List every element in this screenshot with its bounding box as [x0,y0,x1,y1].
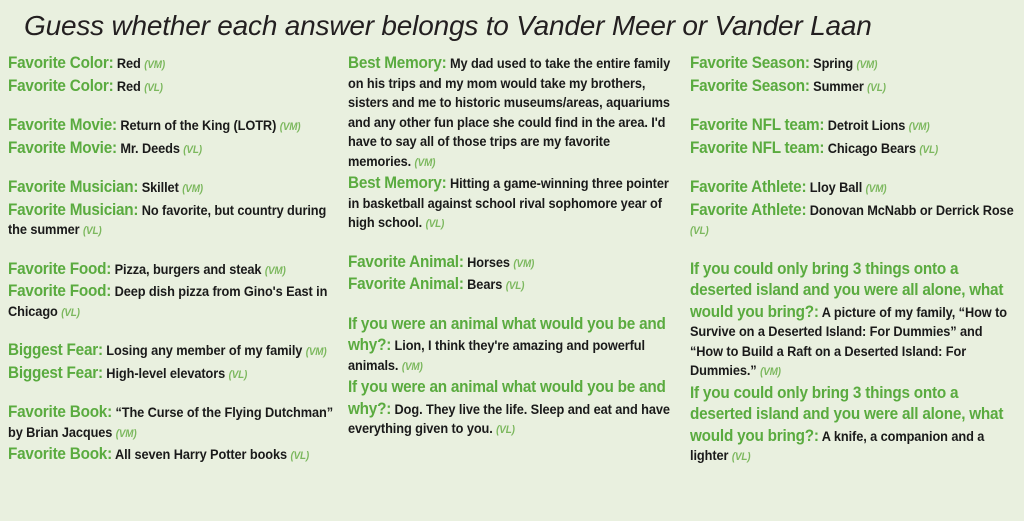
group-spacer [8,385,336,402]
qa-person-tag: (VL) [426,218,445,230]
qa-person-tag: (VM) [265,265,286,277]
qa-person-tag: (VM) [182,183,203,195]
qa-person-tag: (VM) [909,121,930,133]
qa-question: Favorite NFL team: [690,115,824,134]
qa-entry: Favorite Food: Deep dish pizza from Gino… [8,281,336,323]
qa-person-tag: (VL) [83,225,102,237]
qa-entry: Favorite Movie: Return of the King (LOTR… [8,115,336,138]
qa-question: Favorite Animal: [348,252,464,271]
qa-column-1: Favorite Color: Red (VM)Favorite Color: … [0,53,348,467]
group-spacer [690,160,1016,177]
qa-entry: If you were an animal what would you be … [348,377,676,441]
qa-person-tag: (VL) [496,424,515,436]
qa-person-tag: (VL) [919,144,938,156]
qa-answer: My dad used to take the entire family on… [348,56,670,170]
group-spacer [8,160,336,177]
qa-person-tag: (VM) [280,121,301,133]
qa-answer: Losing any member of my family [106,343,302,359]
qa-answer: Mr. Deeds [120,141,180,157]
qa-person-tag: (VL) [183,144,202,156]
group-spacer [690,98,1016,115]
qa-answer: Return of the King (LOTR) [120,118,276,134]
qa-person-tag: (VL) [690,225,709,237]
qa-person-tag: (VL) [229,369,248,381]
group-spacer [8,242,336,259]
qa-entry: Favorite Musician: Skillet (VM) [8,177,336,200]
qa-entry: Best Memory: Hitting a game-winning thre… [348,173,676,235]
qa-answer: Summer [813,79,864,95]
qa-person-tag: (VM) [415,157,436,169]
qa-person-tag: (VL) [506,280,525,292]
qa-entry: Favorite Book: All seven Harry Potter bo… [8,444,336,467]
page-title: Guess whether each answer belongs to Van… [24,6,872,46]
qa-question: Favorite Athlete: [690,200,806,219]
qa-answer: Lloy Ball [810,180,862,196]
qa-question: Favorite NFL team: [690,138,824,157]
group-spacer [8,98,336,115]
qa-entry: Favorite NFL team: Detroit Lions (VM) [690,115,1016,138]
qa-question: Favorite Color: [8,76,113,95]
qa-entry: Favorite Book: “The Curse of the Flying … [8,402,336,444]
qa-entry: Favorite Season: Summer (VL) [690,76,1016,99]
qa-entry: Favorite NFL team: Chicago Bears (VL) [690,138,1016,161]
qa-person-tag: (VM) [760,366,781,378]
qa-question: Favorite Musician: [8,177,138,196]
qa-question: Favorite Color: [8,53,113,72]
qa-entry: Favorite Movie: Mr. Deeds (VL) [8,138,336,161]
qa-entry: Favorite Athlete: Donovan McNabb or Derr… [690,200,1016,242]
qa-entry: Biggest Fear: High-level elevators (VL) [8,363,336,386]
qa-answer: Bears [467,277,502,293]
qa-entry: Favorite Season: Spring (VM) [690,53,1016,76]
qa-person-tag: (VM) [116,428,137,440]
qa-question: Favorite Book: [8,402,112,421]
qa-column-3: Favorite Season: Spring (VM)Favorite Sea… [690,53,1024,468]
group-spacer [8,323,336,340]
qa-answer: Lion, I think they're amazing and powerf… [348,338,645,374]
qa-question: Favorite Musician: [8,200,138,219]
qa-answer: Detroit Lions [828,118,906,134]
qa-entry: Favorite Animal: Bears (VL) [348,274,676,297]
qa-person-tag: (VM) [513,258,534,270]
qa-person-tag: (VL) [290,450,309,462]
qa-question: Favorite Athlete: [690,177,806,196]
qa-question: Favorite Book: [8,444,112,463]
qa-entry: Favorite Musician: No favorite, but coun… [8,200,336,242]
qa-answer: Skillet [142,180,179,196]
qa-answer: All seven Harry Potter books [115,447,287,463]
qa-question: Favorite Movie: [8,115,117,134]
qa-answer: Spring [813,56,853,72]
qa-entry: Favorite Color: Red (VL) [8,76,336,99]
qa-entry: Biggest Fear: Losing any member of my fa… [8,340,336,363]
qa-answer: Red [117,79,141,95]
qa-person-tag: (VL) [61,307,80,319]
qa-entry: Favorite Color: Red (VM) [8,53,336,76]
qa-question: Best Memory: [348,53,446,72]
qa-column-2: Best Memory: My dad used to take the ent… [348,53,690,441]
qa-question: Favorite Season: [690,53,810,72]
qa-person-tag: (VM) [866,183,887,195]
qa-question: Biggest Fear: [8,340,103,359]
qa-answer: Red [117,56,141,72]
qa-answer: Donovan McNabb or Derrick Rose [810,203,1014,219]
qa-person-tag: (VM) [857,59,878,71]
qa-question: Favorite Season: [690,76,810,95]
qa-question: Favorite Movie: [8,138,117,157]
qa-answer: Horses [467,255,510,271]
qa-entry: Best Memory: My dad used to take the ent… [348,53,676,173]
group-spacer [348,235,676,252]
qa-answer: Chicago Bears [828,141,916,157]
qa-entry: Favorite Athlete: Lloy Ball (VM) [690,177,1016,200]
qa-person-tag: (VM) [144,59,165,71]
qa-answer: Pizza, burgers and steak [115,262,262,278]
qa-question: Favorite Food: [8,281,111,300]
qa-entry: If you could only bring 3 things onto a … [690,259,1016,383]
qa-person-tag: (VL) [732,451,751,463]
qa-person-tag: (VM) [402,361,423,373]
qa-question: Best Memory: [348,173,446,192]
group-spacer [348,297,676,314]
qa-person-tag: (VM) [306,346,327,358]
qa-entry: If you were an animal what would you be … [348,314,676,378]
qa-page: Guess whether each answer belongs to Van… [0,0,1024,521]
group-spacer [690,242,1016,259]
qa-entry: If you could only bring 3 things onto a … [690,383,1016,468]
qa-question: Favorite Animal: [348,274,464,293]
qa-question: Favorite Food: [8,259,111,278]
qa-person-tag: (VL) [144,82,163,94]
qa-entry: Favorite Food: Pizza, burgers and steak … [8,259,336,282]
qa-answer: High-level elevators [106,366,225,382]
qa-columns: Favorite Color: Red (VM)Favorite Color: … [0,53,1024,521]
qa-person-tag: (VL) [867,82,886,94]
qa-entry: Favorite Animal: Horses (VM) [348,252,676,275]
qa-question: Biggest Fear: [8,363,103,382]
